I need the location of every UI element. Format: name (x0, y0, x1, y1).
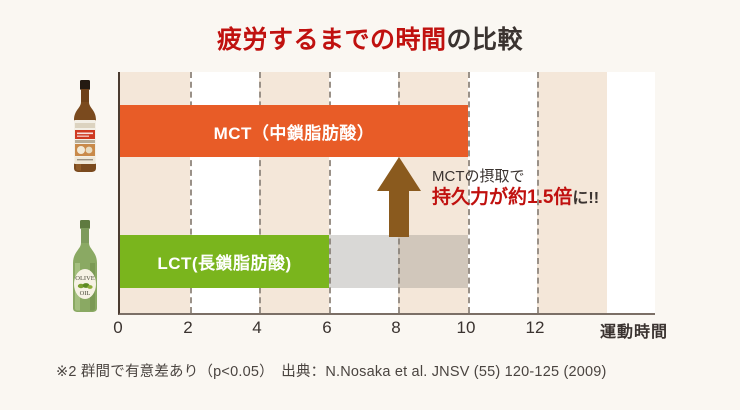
xtick-6: 6 (307, 318, 347, 338)
bar-lct-shadow-region (329, 235, 468, 288)
xtick-12: 12 (515, 318, 555, 338)
callout-line-1: MCTの摂取で (432, 168, 599, 186)
xtick-10: 10 (446, 318, 486, 338)
bar-mct: MCT（中鎖脂肪酸） (120, 105, 468, 157)
x-axis-label: 運動時間 (600, 318, 668, 342)
page-title: 疲労するまでの時間の比較 (0, 20, 740, 56)
callout-suffix: に!! (572, 190, 599, 207)
bar-lct: LCT(長鎖脂肪酸) (120, 235, 329, 288)
title-red-segment: 疲労するまでの時間 (217, 26, 447, 54)
callout-emphasis: 持久力が約1.5倍 (432, 187, 572, 208)
xtick-2: 2 (168, 318, 208, 338)
bar-mct-label: MCT（中鎖脂肪酸） (214, 119, 375, 144)
xtick-0: 0 (98, 318, 138, 338)
olive-oil-bottle-icon: OLIVE OIL (62, 218, 108, 314)
title-dark-segment: の比較 (447, 26, 524, 54)
source-footnote: ※2 群間で有意差あり（p<0.05） 出典：N.Nosaka et al. J… (56, 360, 607, 381)
olive-oil-bottle: OLIVE OIL (62, 218, 108, 314)
increase-arrow-icon (376, 157, 422, 237)
callout-annotation: MCTの摂取で 持久力が約1.5倍に!! (432, 168, 599, 209)
svg-text:OIL: OIL (80, 290, 91, 297)
infographic-root: 疲労するまでの時間の比較 (0, 0, 740, 410)
mct-oil-bottle-icon (62, 78, 108, 174)
callout-line-2: 持久力が約1.5倍に!! (432, 186, 599, 209)
mct-oil-bottle (62, 78, 108, 174)
svg-text:OLIVE: OLIVE (75, 275, 95, 282)
xtick-4: 4 (237, 318, 277, 338)
bar-lct-label: LCT(長鎖脂肪酸) (157, 249, 291, 274)
xtick-8: 8 (376, 318, 416, 338)
